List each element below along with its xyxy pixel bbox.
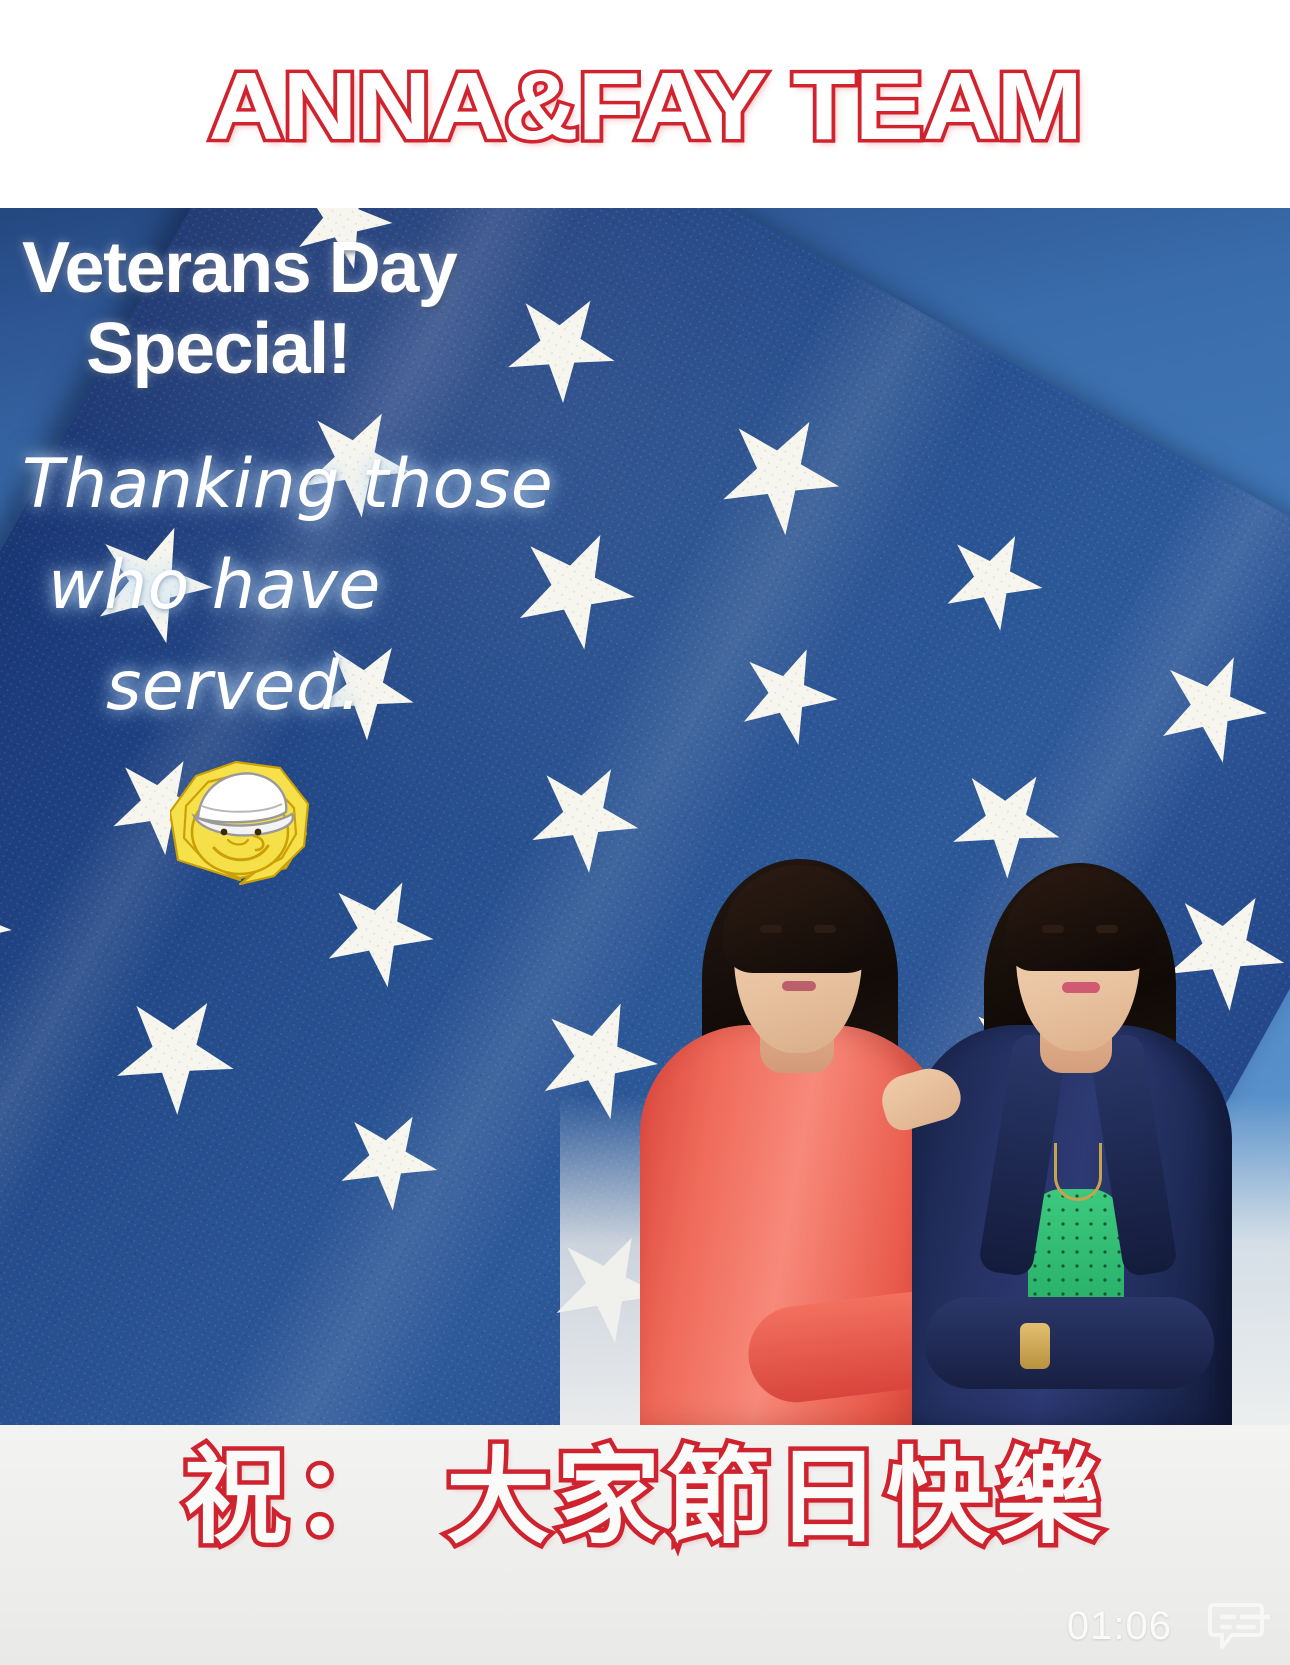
sun-face-with-cap-icon [170, 760, 310, 890]
pendant-necklace [1054, 1143, 1102, 1201]
player-meta: 01:06 [1067, 1601, 1262, 1651]
woman-right [900, 765, 1240, 1425]
closed-caption-bubble-icon[interactable] [1208, 1601, 1270, 1651]
mouth [782, 981, 816, 991]
promo-headline-line1: Veterans Day [22, 228, 456, 308]
eye-right [814, 925, 836, 933]
promo-text-overlay: Veterans Day Special! Thanking those who… [22, 228, 582, 737]
eye-left [760, 925, 782, 933]
top-banner: ANNA&FAY TEAM [0, 0, 1290, 208]
video-timestamp: 01:06 [1067, 1604, 1172, 1649]
promo-subtext: Thanking those who have served. [22, 435, 582, 737]
promo-subtext-line2: who have [22, 536, 582, 637]
crossed-arms [924, 1297, 1214, 1389]
eye-left [1042, 925, 1064, 933]
promo-subtext-line3: served. [22, 637, 582, 738]
bottom-caption-bar: 祝： 大家節日快樂 01:06 [0, 1425, 1290, 1665]
eye-right [1096, 925, 1118, 933]
promo-subtext-line1: Thanking those [22, 445, 553, 524]
mouth [1062, 982, 1100, 993]
promo-headline: Veterans Day Special! [22, 228, 582, 389]
video-player-frame[interactable]: Veterans Day Special! Thanking those who… [0, 208, 1290, 1425]
chinese-greeting-caption: 祝： 大家節日快樂 [0, 1439, 1290, 1555]
promo-headline-line2: Special! [22, 309, 582, 390]
page-title: ANNA&FAY TEAM [208, 59, 1081, 155]
wristwatch [1020, 1323, 1050, 1369]
video-post-screen: ANNA&FAY TEAM [0, 0, 1290, 1665]
